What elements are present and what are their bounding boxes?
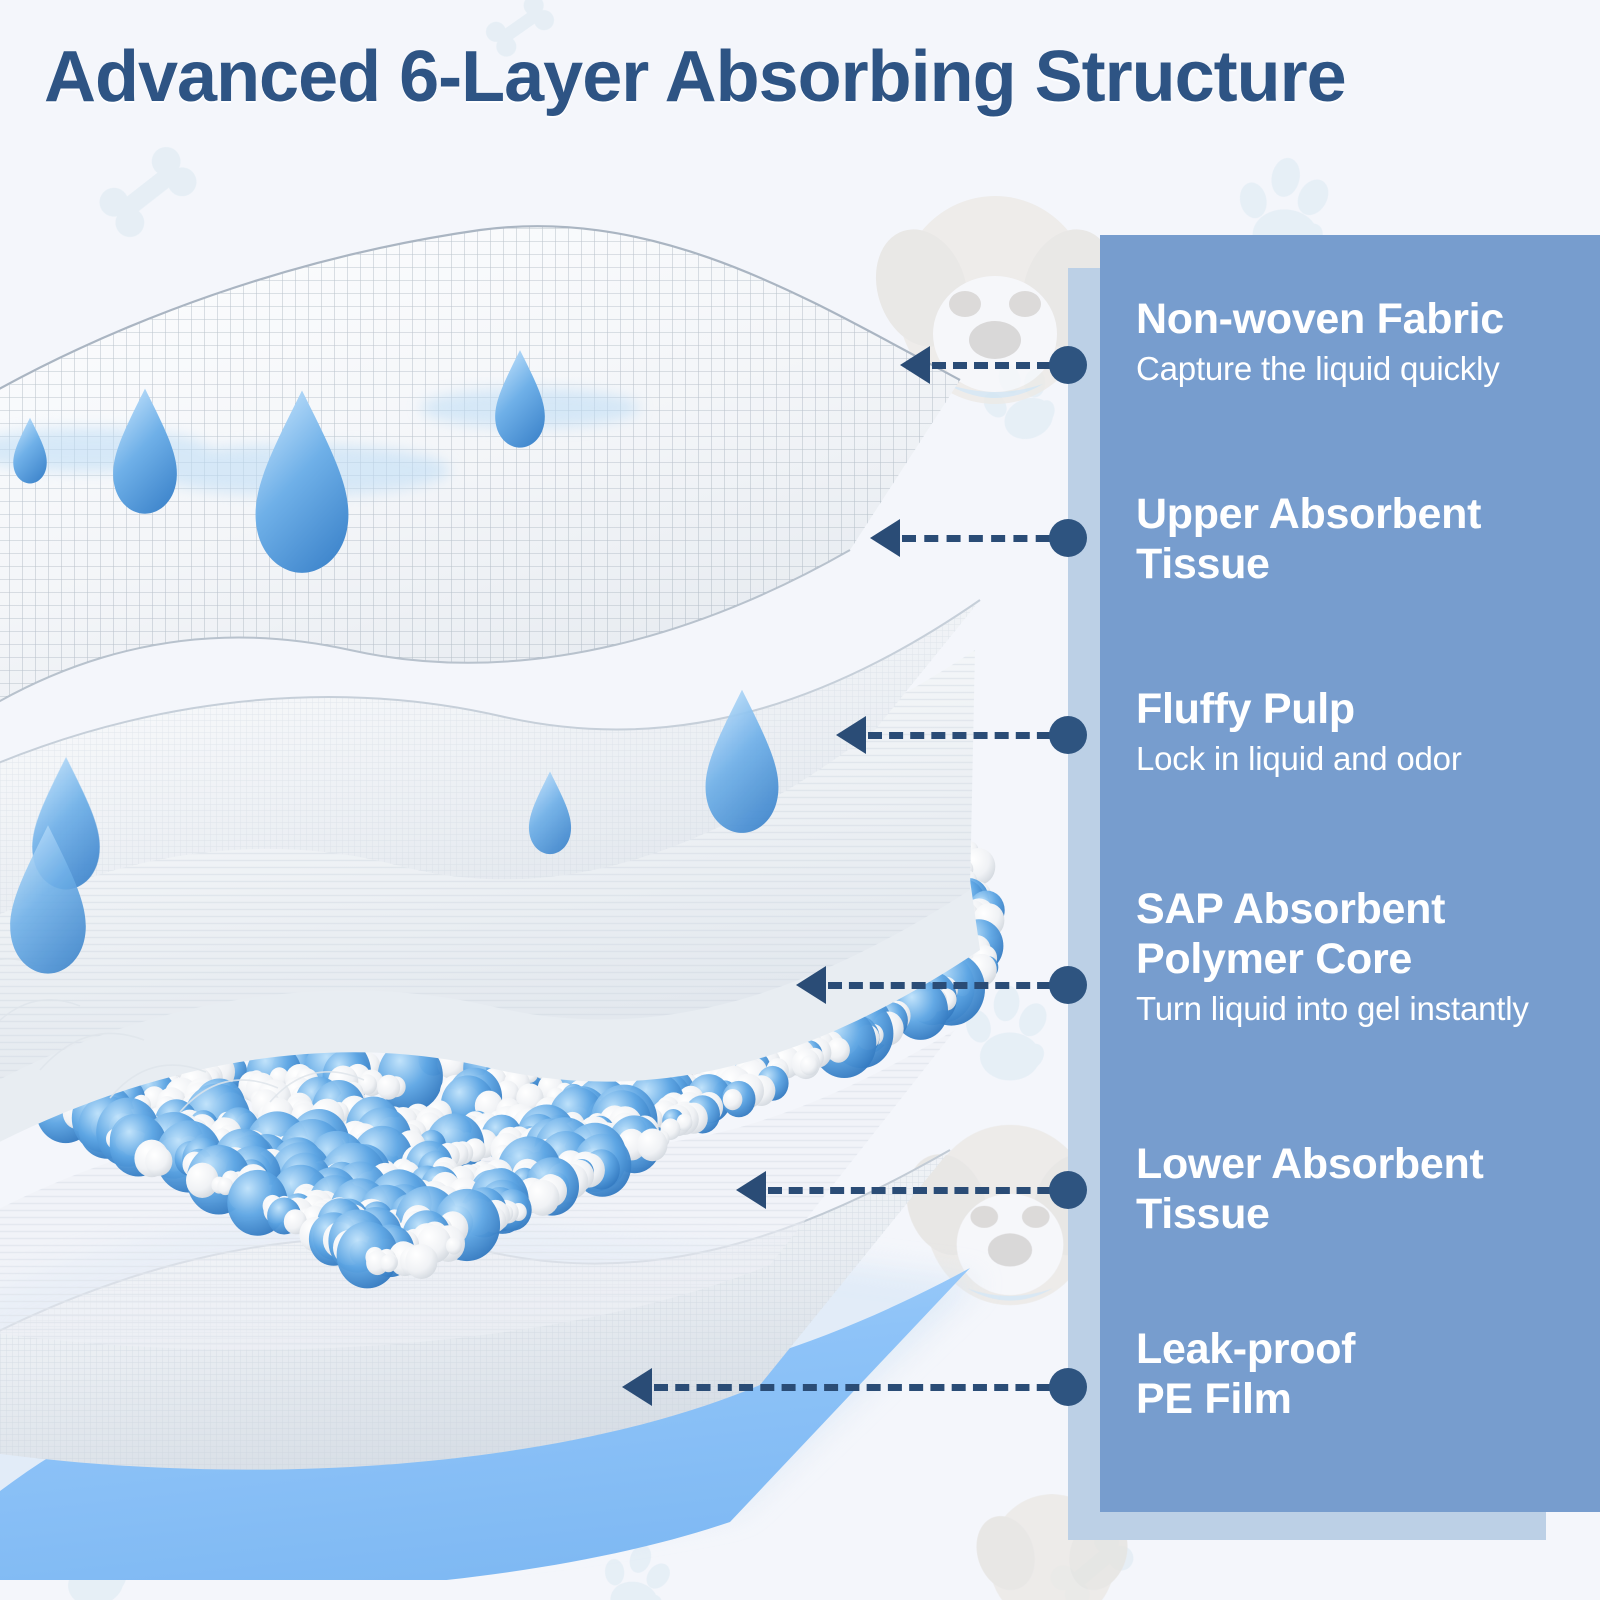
pointer-arrow-1 <box>900 346 930 384</box>
layer-title: Fluffy Pulp <box>1136 685 1462 735</box>
infographic-canvas: Advanced 6-Layer Absorbing Structure <box>0 0 1600 1600</box>
layer-title: Non-woven Fabric <box>1136 295 1504 345</box>
pointer-dot-6 <box>1049 1368 1087 1406</box>
pointer-arrow-6 <box>622 1368 652 1406</box>
sap-polymer-bead <box>800 1056 818 1076</box>
sap-polymer-bead <box>405 1244 437 1279</box>
sap-polymer-bead <box>380 1254 397 1272</box>
layer-label-5[interactable]: Lower Absorbent Tissue <box>1136 1140 1483 1244</box>
layer-label-3[interactable]: Fluffy Pulp Lock in liquid and odor <box>1136 685 1462 778</box>
sap-polymer-bead <box>377 1075 400 1100</box>
page-title: Advanced 6-Layer Absorbing Structure <box>44 36 1346 118</box>
pointer-arrow-5 <box>736 1171 766 1209</box>
layer-label-6[interactable]: Leak-proof PE Film <box>1136 1325 1355 1429</box>
layer-description: Lock in liquid and odor <box>1136 739 1462 779</box>
pointer-line-2 <box>902 535 1072 542</box>
pointer-dot-4 <box>1049 966 1087 1004</box>
pointer-line-3 <box>868 732 1072 739</box>
pointer-arrow-3 <box>836 716 866 754</box>
pointer-dot-2 <box>1049 519 1087 557</box>
layer-label-2[interactable]: Upper Absorbent Tissue <box>1136 490 1481 594</box>
pointer-dot-1 <box>1049 346 1087 384</box>
layer-description: Capture the liquid quickly <box>1136 349 1504 389</box>
pointer-dot-5 <box>1049 1171 1087 1209</box>
pointer-arrow-4 <box>796 966 826 1004</box>
sap-polymer-bead <box>723 1089 743 1110</box>
sap-polymer-bead <box>145 1146 172 1176</box>
layer-nonwoven-fabric <box>0 226 960 770</box>
layer-label-4[interactable]: SAP Absorbent Polymer Core Turn liquid i… <box>1136 885 1529 1028</box>
callout-panel <box>1100 235 1600 1512</box>
pointer-line-4 <box>828 982 1072 989</box>
layer-title: Upper Absorbent Tissue <box>1136 490 1481 590</box>
sap-polymer-bead <box>637 1129 667 1162</box>
pointer-dot-3 <box>1049 716 1087 754</box>
layer-description: Turn liquid into gel instantly <box>1136 989 1529 1029</box>
layer-title: SAP Absorbent Polymer Core <box>1136 885 1529 985</box>
pointer-arrow-2 <box>870 519 900 557</box>
layer-title: Leak-proof PE Film <box>1136 1325 1355 1425</box>
pointer-line-5 <box>768 1187 1072 1194</box>
layer-title: Lower Absorbent Tissue <box>1136 1140 1483 1240</box>
layer-label-1[interactable]: Non-woven Fabric Capture the liquid quic… <box>1136 295 1504 388</box>
pointer-line-6 <box>654 1384 1072 1391</box>
sap-polymer-bead <box>446 1237 462 1254</box>
